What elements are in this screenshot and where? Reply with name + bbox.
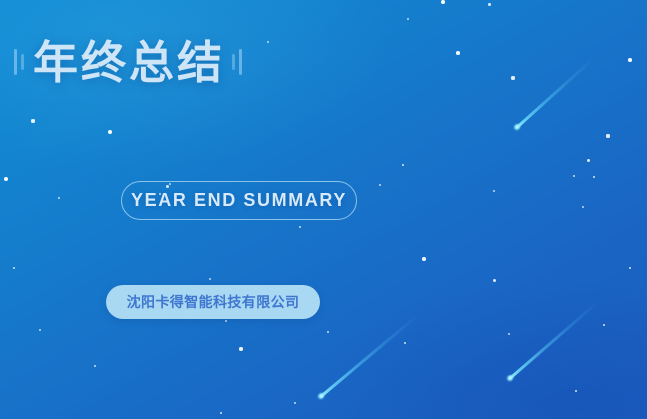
star <box>603 324 606 327</box>
star <box>58 197 60 199</box>
company-name-badge: 沈阳卡得智能科技有限公司 <box>106 285 320 319</box>
star <box>402 164 405 167</box>
page-title: 年终总结 <box>33 40 225 85</box>
title-decoration-left-icon <box>14 34 24 90</box>
star <box>422 257 425 260</box>
year-end-summary-label: YEAR END SUMMARY <box>131 190 347 211</box>
star <box>239 347 242 350</box>
company-name-label: 沈阳卡得智能科技有限公司 <box>127 292 300 312</box>
star <box>220 412 223 415</box>
star <box>39 329 41 331</box>
star <box>593 176 596 179</box>
star <box>511 76 514 79</box>
star <box>209 278 211 280</box>
meteor <box>317 311 421 401</box>
star <box>4 177 8 181</box>
star <box>299 226 301 228</box>
star <box>294 402 296 404</box>
star <box>629 267 632 270</box>
star <box>508 333 510 335</box>
star <box>575 390 578 393</box>
star <box>441 0 445 4</box>
title-block: 年终总结 <box>14 34 242 90</box>
star <box>327 331 329 333</box>
title-decoration-right-icon <box>232 34 242 90</box>
star <box>582 206 584 208</box>
star <box>456 51 460 55</box>
star <box>493 279 496 282</box>
star <box>108 130 112 134</box>
star <box>13 267 16 270</box>
star <box>493 190 495 192</box>
presentation-slide: 年终总结 YEAR END SUMMARY 沈阳卡得智能科技有限公司 <box>0 0 647 419</box>
star <box>379 184 381 186</box>
star <box>628 58 632 62</box>
star <box>488 3 491 6</box>
star <box>587 159 590 162</box>
star <box>404 342 407 345</box>
star <box>94 365 96 367</box>
star <box>407 18 409 20</box>
star <box>267 41 269 43</box>
star <box>606 134 609 137</box>
star <box>31 119 34 122</box>
star <box>225 320 227 322</box>
meteor <box>513 55 597 132</box>
star <box>573 175 575 177</box>
year-end-summary-pill: YEAR END SUMMARY <box>121 181 357 220</box>
meteor <box>506 298 602 383</box>
